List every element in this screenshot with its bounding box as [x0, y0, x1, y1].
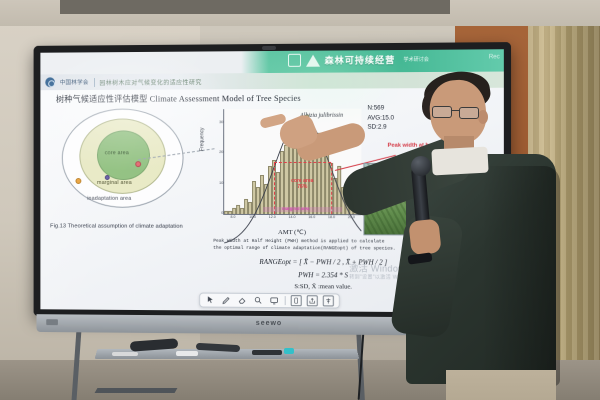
- share-icon[interactable]: [306, 295, 317, 306]
- chart-x-tick: 16.0: [308, 215, 315, 219]
- sample-dot-core: [135, 161, 141, 167]
- screen-icon[interactable]: [269, 295, 280, 306]
- chart-x-axis-label: AMT (℃): [223, 228, 361, 236]
- glasses-bridge: [452, 110, 459, 111]
- chart-x-ticks: 8.010.012.014.016.018.020.0: [223, 215, 361, 223]
- glasses-lens-left: [432, 106, 452, 118]
- pen-icon[interactable]: [221, 295, 232, 306]
- climate-adaptation-diagram: core area marginal area inadaptation are…: [54, 106, 203, 218]
- tablet-icon[interactable]: [290, 295, 301, 306]
- device-brand-label: seewo: [256, 320, 282, 327]
- chart-x-tick: 8.0: [230, 215, 235, 219]
- cursor-icon[interactable]: [205, 295, 216, 306]
- core-area-label: core area: [105, 150, 129, 156]
- seewo-toolbar[interactable]: [199, 293, 339, 309]
- chart-x-tick: 20.0: [348, 215, 355, 219]
- chart-x-tick: 10.0: [249, 215, 256, 219]
- presenter-collar: [431, 147, 488, 176]
- conference-triangle-logo: [306, 54, 320, 66]
- half-height-dashed-line: [274, 162, 331, 163]
- slide-title: 树种气候适应性评估模型 Climate Assessment Model of …: [56, 92, 301, 105]
- conference-logos: 森林可持续经营 学术研讨会: [288, 53, 429, 67]
- chart-y-axis-label: Frequency: [199, 128, 205, 152]
- magnifier-icon[interactable]: [253, 295, 264, 306]
- marginal-area-label: marginal area: [97, 180, 132, 186]
- toolbar-divider: [285, 296, 286, 305]
- chart-x-tick: 12.0: [269, 215, 276, 219]
- ir-sensor: [262, 46, 276, 50]
- glasses-lens-right: [459, 107, 479, 119]
- sample-dot-inadaptation: [75, 178, 81, 184]
- conference-subtitle: 学术研讨会: [403, 56, 428, 63]
- chart-x-tick: 14.0: [288, 215, 295, 219]
- slide-theme-text: 园林树木应对气候变化的适应性研究: [99, 77, 201, 87]
- ceiling-strip: [60, 0, 450, 14]
- chart-y-ticks: 0102030: [213, 109, 223, 215]
- stand-foot: [95, 388, 178, 393]
- header-divider: [94, 78, 95, 87]
- presenter-torso-shading: [482, 166, 560, 386]
- organization-name: 中国林学会: [60, 78, 89, 86]
- figure-caption: Fig.13 Theoretical assumption of climate…: [50, 223, 183, 229]
- stat-sd: SD:2.9: [367, 123, 394, 133]
- shelf-object-card: [112, 352, 138, 356]
- sample-statistics: N:569 AVG:15.0 SD:2.9: [367, 103, 394, 132]
- conference-right-note: Rec: [489, 54, 500, 60]
- shelf-object-remote: [252, 350, 282, 355]
- chart-core-area-percent: 76%: [274, 184, 331, 190]
- presenter-mic-hand: [408, 219, 441, 256]
- shelf-object-marker: [284, 348, 294, 354]
- eraser-icon[interactable]: [237, 295, 248, 306]
- presenter: [392, 70, 600, 400]
- chart-x-tick: 18.0: [328, 215, 335, 219]
- stat-avg: AVG:15.0: [367, 113, 394, 123]
- conference-title: 森林可持续经营: [325, 53, 396, 67]
- panel-port-badge: [46, 319, 58, 325]
- apps-icon[interactable]: [322, 295, 333, 306]
- microphone-head: [411, 156, 431, 176]
- chart-core-area-label: core area 76%: [274, 178, 331, 190]
- presenter-trousers: [446, 370, 556, 400]
- presenter-glasses: [432, 106, 482, 119]
- inadaptation-area-label: inadaptation area: [87, 196, 131, 202]
- organization-logo-icon: [45, 77, 55, 87]
- stat-n: N:569: [367, 103, 394, 113]
- shelf-object-paper: [176, 351, 198, 356]
- chart-marginal-area-label: marginal area: [282, 206, 309, 211]
- conference-square-logo: [288, 54, 301, 67]
